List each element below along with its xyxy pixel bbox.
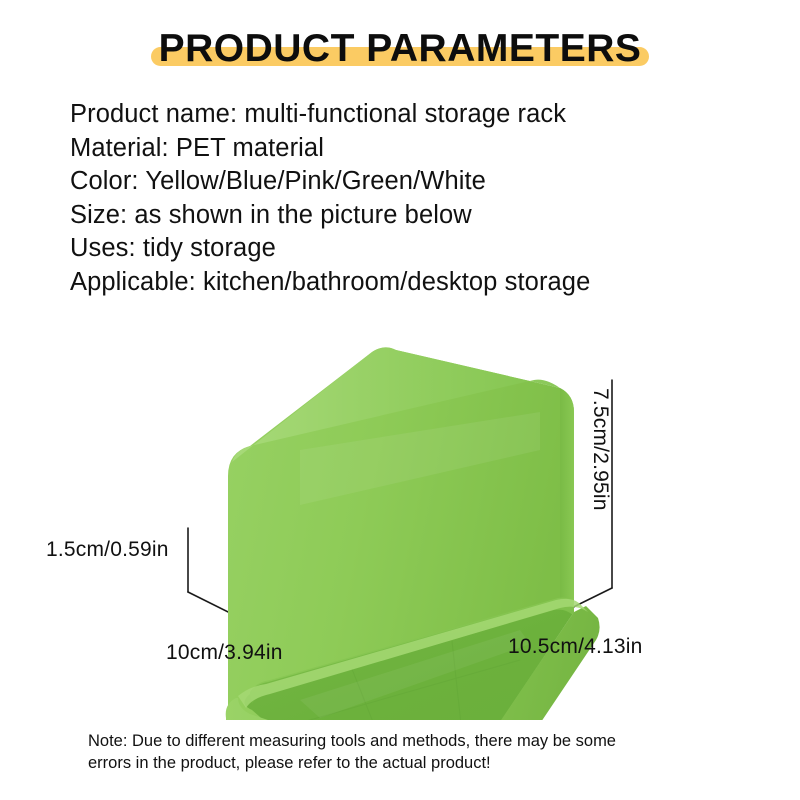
product-parameters-page: PRODUCT PARAMETERS Product name: multi-f…	[0, 0, 800, 800]
spec-line-material: Material: PET material	[70, 132, 770, 166]
dimension-label-lip-height: 1.5cm/0.59in	[46, 538, 169, 562]
specification-list: Product name: multi-functional storage r…	[70, 98, 770, 299]
spec-line-product-name: Product name: multi-functional storage r…	[70, 98, 770, 132]
footer-note-line-1: Note: Due to different measuring tools a…	[88, 730, 728, 752]
spec-line-size: Size: as shown in the picture below	[70, 199, 770, 233]
spec-line-uses: Uses: tidy storage	[70, 232, 770, 266]
product-diagram-svg	[0, 300, 800, 720]
footer-note-line-2: errors in the product, please refer to t…	[88, 752, 728, 774]
footer-note: Note: Due to different measuring tools a…	[88, 730, 728, 774]
product-illustration	[0, 300, 800, 720]
dimension-label-width: 10cm/3.94in	[166, 641, 283, 665]
page-title: PRODUCT PARAMETERS	[0, 22, 800, 74]
title-text: PRODUCT PARAMETERS	[159, 27, 642, 70]
dimension-label-depth: 10.5cm/4.13in	[508, 635, 643, 659]
spec-line-color: Color: Yellow/Blue/Pink/Green/White	[70, 165, 770, 199]
dimension-label-height: 7.5cm/2.95in	[588, 388, 612, 511]
spec-line-applicable: Applicable: kitchen/bathroom/desktop sto…	[70, 266, 770, 300]
title-inner: PRODUCT PARAMETERS	[159, 29, 642, 68]
